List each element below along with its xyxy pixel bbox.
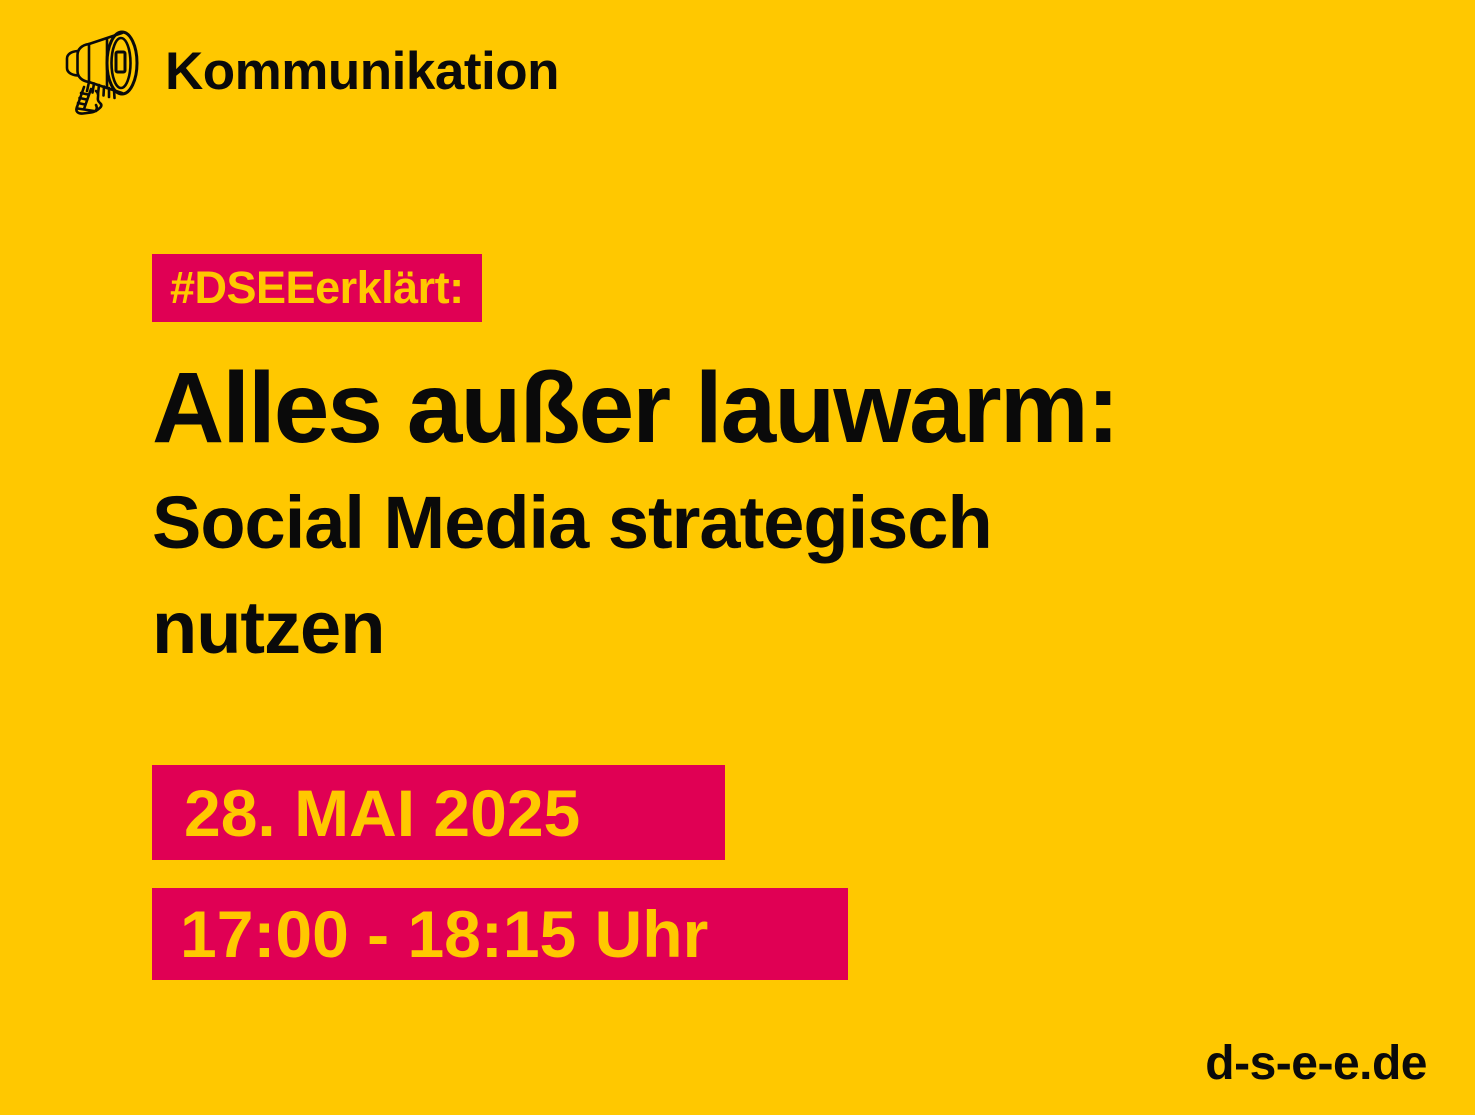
poster-header: Kommunikation	[55, 26, 559, 116]
event-announcement-poster: Kommunikation #DSEEerklärt: Alles außer …	[0, 0, 1475, 1115]
footer-website-url: d-s-e-e.de	[1205, 1040, 1427, 1088]
event-time-badge: 17:00 - 18:15 Uhr	[152, 888, 848, 980]
event-title-sub: Social Media strategisch nutzen	[152, 470, 1162, 680]
event-title-main: Alles außer lauwarm:	[152, 352, 1402, 464]
megaphone-icon	[55, 27, 147, 115]
hashtag-badge-label: #DSEEerklärt:	[170, 262, 464, 314]
hashtag-badge: #DSEEerklärt:	[152, 254, 482, 322]
event-date-label: 28. MAI 2025	[184, 775, 580, 851]
event-time-label: 17:00 - 18:15 Uhr	[180, 896, 708, 972]
header-category-title: Kommunikation	[165, 45, 559, 98]
event-date-badge: 28. MAI 2025	[152, 765, 725, 860]
headline-block: Alles außer lauwarm: Social Media strate…	[152, 352, 1402, 680]
